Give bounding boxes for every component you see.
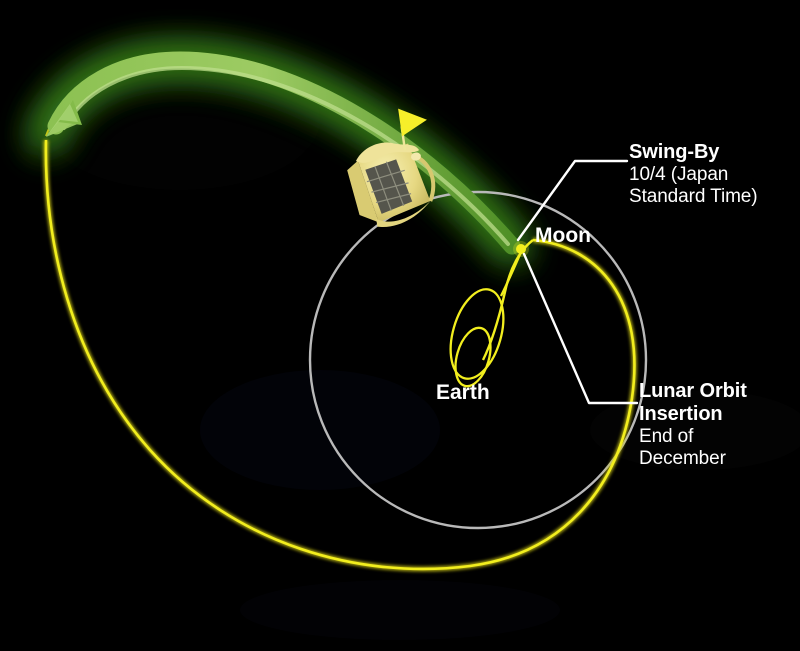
lunar-orbit-insertion-subline-1: End of bbox=[639, 426, 799, 448]
earth-label: Earth bbox=[436, 381, 490, 405]
swing-by-annotation: Swing-By 10/4 (Japan Standard Time) bbox=[629, 141, 797, 208]
swing-by-subline-2: Standard Time) bbox=[629, 186, 797, 208]
lunar-orbit-insertion-title-1: Lunar Orbit bbox=[639, 380, 799, 403]
swing-by-title: Swing-By bbox=[629, 141, 797, 164]
lunar-orbit-insertion-annotation: Lunar Orbit Insertion End of December bbox=[639, 380, 799, 470]
moon-label: Moon bbox=[535, 224, 591, 248]
trajectory-diagram bbox=[0, 0, 800, 651]
diagram-canvas: Swing-By 10/4 (Japan Standard Time) Luna… bbox=[0, 0, 800, 651]
lunar-orbit-insertion-subline-2: December bbox=[639, 448, 799, 470]
moon-marker-halo bbox=[513, 241, 529, 257]
swing-by-subline-1: 10/4 (Japan bbox=[629, 164, 797, 186]
lunar-orbit-insertion-title-2: Insertion bbox=[639, 403, 799, 426]
